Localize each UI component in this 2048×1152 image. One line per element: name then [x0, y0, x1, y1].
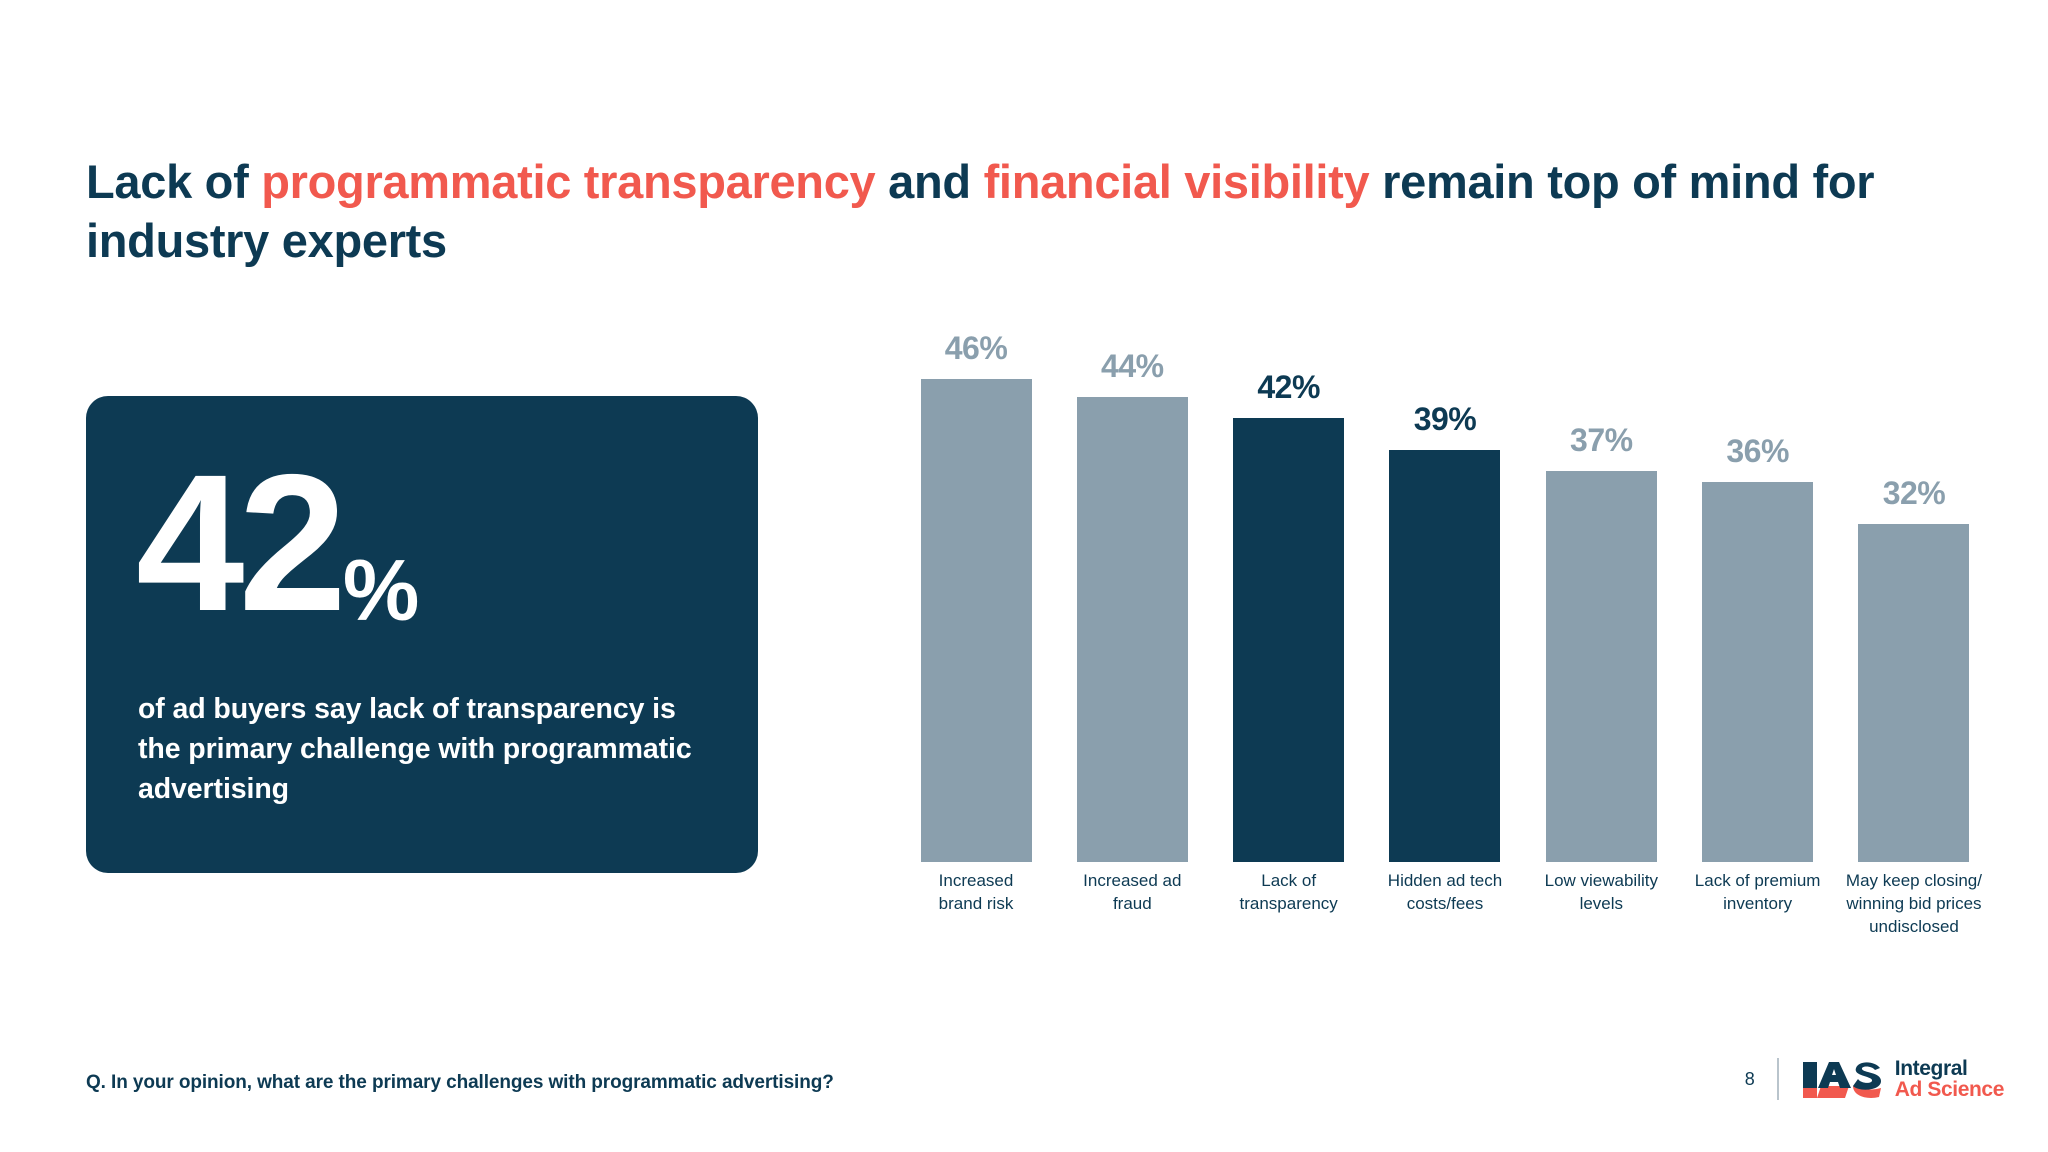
ias-logo: Integral Ad Science	[1801, 1058, 2004, 1101]
page-number: 8	[1745, 1069, 1755, 1090]
headline-accent-programmatic-transparency: programmatic transparency	[261, 155, 875, 208]
bar-rect	[1858, 524, 1969, 862]
headline-segment-1: Lack of	[86, 155, 261, 208]
x-axis-label: Hidden ad tech costs/fees	[1374, 870, 1516, 938]
bar-column: 36%	[1687, 330, 1829, 862]
bar-value-label: 36%	[1726, 433, 1789, 470]
ias-logomark-icon	[1801, 1058, 1885, 1100]
x-axis-label: May keep closing/ winning bid prices und…	[1843, 870, 1985, 938]
survey-question-footnote: Q. In your opinion, what are the primary…	[86, 1072, 834, 1094]
x-axis-label: Lack of transparency	[1218, 870, 1360, 938]
x-axis-label: Low viewability levels	[1530, 870, 1672, 938]
bar-rect	[1702, 482, 1813, 862]
bar-column: 44%	[1061, 330, 1203, 862]
bar-column: 32%	[1843, 330, 1985, 862]
chart-plot-area: 46%44%42%39%37%36%32%	[905, 330, 1985, 862]
bar-value-label: 46%	[945, 330, 1008, 367]
chart-x-axis: Increased brand riskIncreased ad fraudLa…	[905, 870, 1985, 938]
bar-column: 46%	[905, 330, 1047, 862]
bar-rect	[1546, 471, 1657, 862]
bar-value-label: 39%	[1414, 401, 1477, 438]
bar-chart: 46%44%42%39%37%36%32% Increased brand ri…	[905, 330, 1985, 950]
bar-rect	[921, 379, 1032, 862]
stat-description: of ad buyers say lack of transparency is…	[138, 690, 720, 810]
bar-rect	[1077, 397, 1188, 862]
bar-column: 42%	[1218, 330, 1360, 862]
footer-right-group: 8 Integral Ad Science	[1745, 1058, 2004, 1101]
stat-number: 42	[136, 462, 341, 626]
bar-column: 39%	[1374, 330, 1516, 862]
x-axis-label: Increased brand risk	[905, 870, 1047, 938]
stat-percent-sign: %	[343, 548, 419, 634]
headline-accent-financial-visibility: financial visibility	[984, 155, 1370, 208]
logo-line-ad-science: Ad Science	[1895, 1079, 2004, 1100]
bar-rect	[1389, 450, 1500, 862]
ias-logo-wordmark: Integral Ad Science	[1895, 1058, 2004, 1101]
headline-segment-2: and	[875, 155, 983, 208]
x-axis-label: Lack of premium inventory	[1687, 870, 1829, 938]
bar-value-label: 44%	[1101, 348, 1164, 385]
bar-value-label: 42%	[1257, 369, 1320, 406]
bar-rect	[1233, 418, 1344, 862]
bar-column: 37%	[1530, 330, 1672, 862]
x-axis-label: Increased ad fraud	[1061, 870, 1203, 938]
logo-line-integral: Integral	[1895, 1058, 2004, 1079]
stat-figure: 42 %	[136, 462, 720, 634]
page-title: Lack of programmatic transparency and fi…	[86, 152, 1916, 270]
footer-divider	[1777, 1058, 1779, 1100]
bar-value-label: 37%	[1570, 422, 1633, 459]
bar-value-label: 32%	[1883, 475, 1946, 512]
stat-callout-card: 42 % of ad buyers say lack of transparen…	[86, 396, 758, 873]
